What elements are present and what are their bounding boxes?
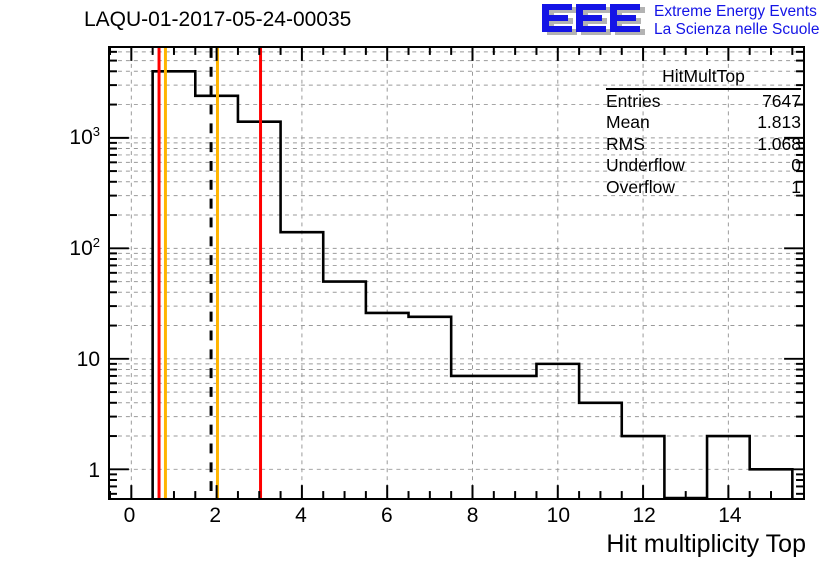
page-title: LAQU-01-2017-05-24-00035 bbox=[84, 8, 351, 32]
x-tick-label-4: 4 bbox=[295, 504, 307, 528]
stats-row-rms: RMS1.068 bbox=[606, 133, 801, 155]
y-tick-label-103: 103 bbox=[69, 124, 100, 150]
stats-key: Underflow bbox=[606, 155, 685, 176]
x-axis-title: Hit multiplicity Top bbox=[606, 530, 806, 559]
x-tick-label-12: 12 bbox=[632, 504, 655, 528]
stats-key: Overflow bbox=[606, 177, 675, 198]
x-tick-label-8: 8 bbox=[467, 504, 479, 528]
y-tick-label-10: 10 bbox=[77, 348, 100, 372]
stats-key: RMS bbox=[606, 134, 645, 155]
y-tick-label-1: 1 bbox=[88, 459, 100, 483]
x-tick-label-10: 10 bbox=[547, 504, 570, 528]
stats-value: 0 bbox=[791, 155, 801, 176]
eee-logo-line-1: Extreme Energy Events bbox=[654, 3, 819, 21]
stats-row-entries: Entries7647 bbox=[606, 90, 801, 112]
stats-key: Mean bbox=[606, 112, 650, 133]
stats-value: 7647 bbox=[762, 91, 801, 112]
stats-row-underflow: Underflow0 bbox=[606, 154, 801, 176]
stats-box: HitMultTop Entries7647Mean1.813RMS1.068U… bbox=[606, 66, 801, 197]
stats-value: 1.068 bbox=[757, 134, 801, 155]
eee-logo-line-2: La Scienza nelle Scuole bbox=[654, 21, 819, 39]
x-tick-label-14: 14 bbox=[718, 504, 741, 528]
eee-logo-mark bbox=[538, 3, 648, 39]
x-tick-label-2: 2 bbox=[209, 504, 221, 528]
y-tick-label-102: 102 bbox=[69, 235, 100, 261]
x-tick-label-0: 0 bbox=[124, 504, 136, 528]
root-canvas: LAQU-01-2017-05-24-00035 Extreme Energy … bbox=[0, 0, 836, 572]
stats-box-title: HitMultTop bbox=[606, 66, 801, 90]
stats-row-mean: Mean1.813 bbox=[606, 111, 801, 133]
eee-logo-text: Extreme Energy Events La Scienza nelle S… bbox=[654, 3, 819, 39]
stats-key: Entries bbox=[606, 91, 660, 112]
x-tick-label-6: 6 bbox=[381, 504, 393, 528]
stats-row-overflow: Overflow1 bbox=[606, 176, 801, 198]
stats-value: 1 bbox=[791, 177, 801, 198]
stats-value: 1.813 bbox=[757, 112, 801, 133]
eee-logo: Extreme Energy Events La Scienza nelle S… bbox=[538, 2, 834, 44]
stats-box-rows: Entries7647Mean1.813RMS1.068Underflow0Ov… bbox=[606, 90, 801, 198]
